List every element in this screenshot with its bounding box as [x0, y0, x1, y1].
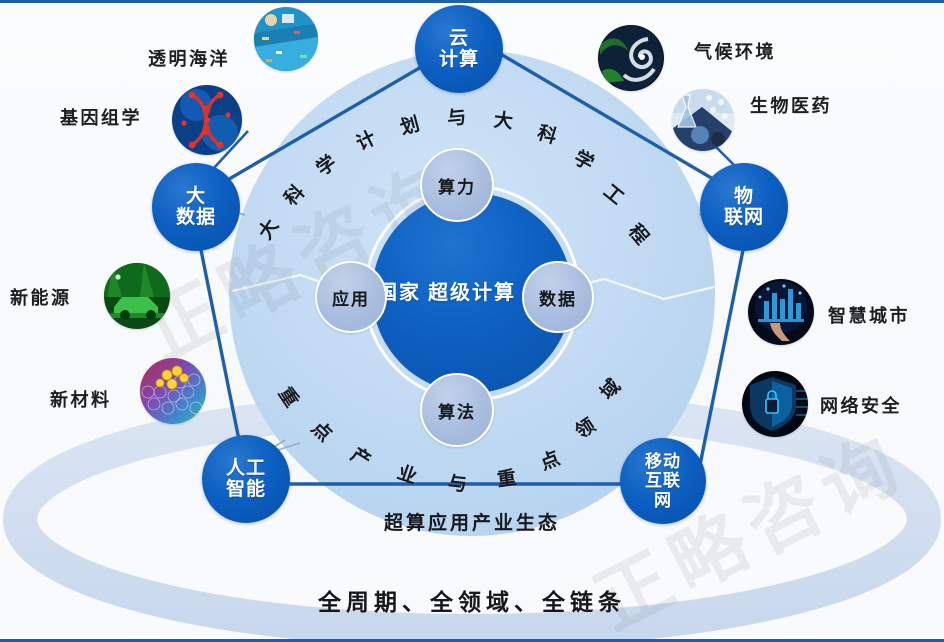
node-label-line-2: 联网	[722, 207, 766, 228]
arc-char: 重	[495, 463, 518, 492]
node-label-line-1: 云	[437, 28, 481, 49]
outer-icon-hurricane-earth-icon[interactable]	[598, 25, 664, 91]
outer-icon-green-car-icon[interactable]	[104, 263, 170, 329]
node-label-line-1: 物	[722, 186, 766, 207]
outer-icon-molecule-grid-icon[interactable]	[140, 358, 206, 424]
pentagon-node-cloud-computing[interactable]: 云 计算	[415, 5, 503, 93]
outer-icon-ocean-plastic-icon[interactable]	[254, 7, 318, 71]
outer-icon-dna-helix-icon[interactable]	[172, 85, 242, 155]
satellite-label: 算力	[438, 173, 476, 198]
node-label-line-2: 互联	[643, 471, 683, 490]
node-label-line-2: 数据	[174, 207, 218, 228]
satellite-node-algorithm[interactable]: 算法	[420, 373, 494, 447]
satellite-node-computing-power[interactable]: 算力	[420, 148, 494, 222]
arc-char: 与	[447, 468, 469, 497]
node-label-line-1: 移动	[643, 452, 683, 471]
ecosystem-caption: 超算应用产业生态	[0, 508, 944, 535]
outer-label-cybersecurity: 网络安全	[820, 392, 902, 418]
outer-label-smart-city: 智慧城市	[828, 302, 910, 328]
diagram-canvas: 正略咨询 正略咨询	[0, 0, 944, 642]
satellite-node-data[interactable]: 数据	[522, 261, 594, 333]
outer-label-new-materials: 新材料	[50, 386, 112, 412]
pentagon-node-iot[interactable]: 物 联网	[700, 163, 788, 251]
node-label-line-3: 网	[643, 491, 683, 510]
outer-label-genomics: 基因组学	[60, 104, 142, 130]
outer-icon-lab-flask-icon[interactable]	[672, 89, 734, 151]
outer-label-new-energy: 新能源	[10, 284, 72, 310]
node-label-line-1: 大	[174, 186, 218, 207]
node-label-line-2: 智能	[224, 479, 268, 500]
satellite-label: 应用	[332, 285, 370, 310]
outer-label-biomedicine: 生物医药	[750, 92, 832, 118]
ecosystem-subtitle: 全周期、全领域、全链条	[0, 583, 944, 617]
outer-icon-shield-lock-icon[interactable]	[742, 371, 808, 437]
pentagon-node-big-data[interactable]: 大 数据	[152, 163, 240, 251]
satellite-node-application[interactable]: 应用	[315, 261, 387, 333]
satellite-label: 算法	[438, 398, 476, 423]
arc-char: 大	[493, 105, 515, 134]
node-label-line-2: 计算	[437, 49, 481, 70]
satellite-label: 数据	[539, 285, 577, 310]
core-label-line-2: 超级计算	[428, 282, 516, 304]
node-label-line-1: 人工	[224, 458, 268, 479]
arc-char: 与	[446, 102, 467, 131]
outer-label-transparent-ocean: 透明海洋	[148, 45, 230, 71]
outer-icon-smart-city-icon[interactable]	[748, 279, 814, 345]
outer-label-climate: 气候环境	[694, 38, 776, 64]
